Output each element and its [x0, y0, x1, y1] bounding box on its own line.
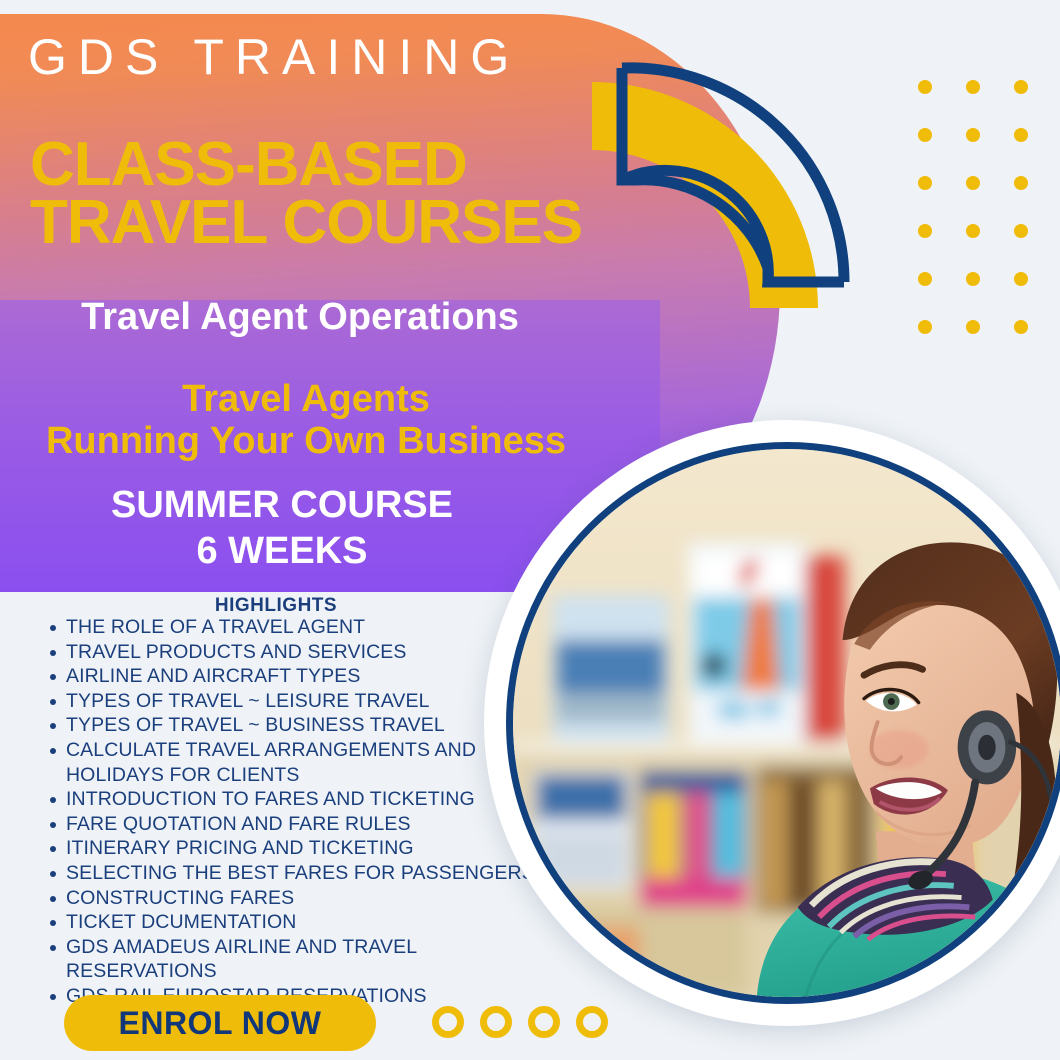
ring-dot: [528, 1006, 560, 1038]
ring-dot: [480, 1006, 512, 1038]
ring-decoration-row: [432, 1006, 608, 1038]
grid-dot: [1014, 80, 1028, 94]
highlights-heading: HIGHLIGHTS: [0, 595, 552, 617]
list-item: SELECTING THE BEST FARES FOR PASSENGERS: [50, 861, 550, 886]
course-subtitle: Travel Agent Operations: [0, 296, 600, 339]
course-duration: SUMMER COURSE 6 WEEKS: [0, 482, 564, 574]
grid-dot: [918, 320, 932, 334]
decorative-arcs: [560, 20, 860, 320]
grid-dot: [966, 320, 980, 334]
list-item: CALCULATE TRAVEL ARRANGEMENTS AND HOLIDA…: [50, 738, 550, 787]
dot-grid-decoration: [918, 80, 1060, 368]
headline-line-1: CLASS-BASED: [30, 136, 582, 194]
grid-dot: [1014, 176, 1028, 190]
grid-dot: [1014, 128, 1028, 142]
list-item: FARE QUOTATION AND FARE RULES: [50, 812, 550, 837]
audience-line-1: Travel Agents: [0, 378, 612, 420]
grid-dot: [1014, 224, 1028, 238]
photo-circle-frame: [484, 420, 1060, 1026]
highlights-list: THE ROLE OF A TRAVEL AGENT TRAVEL PRODUC…: [22, 615, 550, 1009]
list-item: GDS AMADEUS AIRLINE AND TRAVEL RESERVATI…: [50, 935, 550, 984]
grid-dot: [966, 272, 980, 286]
eyebrow-title: GDS TRAINING: [28, 28, 520, 86]
list-item: INTRODUCTION TO FARES AND TICKETING: [50, 787, 550, 812]
grid-dot: [966, 128, 980, 142]
list-item: TICKET DCUMENTATION: [50, 910, 550, 935]
duration-line-1: SUMMER COURSE: [0, 482, 564, 528]
list-item: THE ROLE OF A TRAVEL AGENT: [50, 615, 550, 640]
grid-dot: [966, 176, 980, 190]
grid-dot: [918, 176, 932, 190]
grid-dot: [966, 80, 980, 94]
grid-dot: [918, 128, 932, 142]
list-item: TRAVEL PRODUCTS AND SERVICES: [50, 640, 550, 665]
grid-dot: [1014, 320, 1028, 334]
list-item: TYPES OF TRAVEL ~ BUSINESS TRAVEL: [50, 713, 550, 738]
list-item: ITINERARY PRICING AND TICKETING: [50, 836, 550, 861]
ring-dot: [432, 1006, 464, 1038]
list-item: TYPES OF TRAVEL ~ LEISURE TRAVEL: [50, 689, 550, 714]
enrol-now-button[interactable]: ENROL NOW: [64, 995, 376, 1051]
grid-dot: [966, 224, 980, 238]
main-headline: CLASS-BASED TRAVEL COURSES: [30, 136, 582, 252]
duration-line-2: 6 WEEKS: [0, 528, 564, 574]
ring-dot: [576, 1006, 608, 1038]
grid-dot: [918, 80, 932, 94]
agent-photo: [506, 442, 1060, 1004]
list-item: AIRLINE AND AIRCRAFT TYPES: [50, 664, 550, 689]
grid-dot: [918, 272, 932, 286]
grid-dot: [1014, 272, 1028, 286]
poster-canvas: GDS TRAINING CLASS-BASED TRAVEL COURSES …: [0, 0, 1060, 1060]
list-item: CONSTRUCTING FARES: [50, 886, 550, 911]
grid-dot: [918, 224, 932, 238]
headline-line-2: TRAVEL COURSES: [30, 194, 582, 252]
